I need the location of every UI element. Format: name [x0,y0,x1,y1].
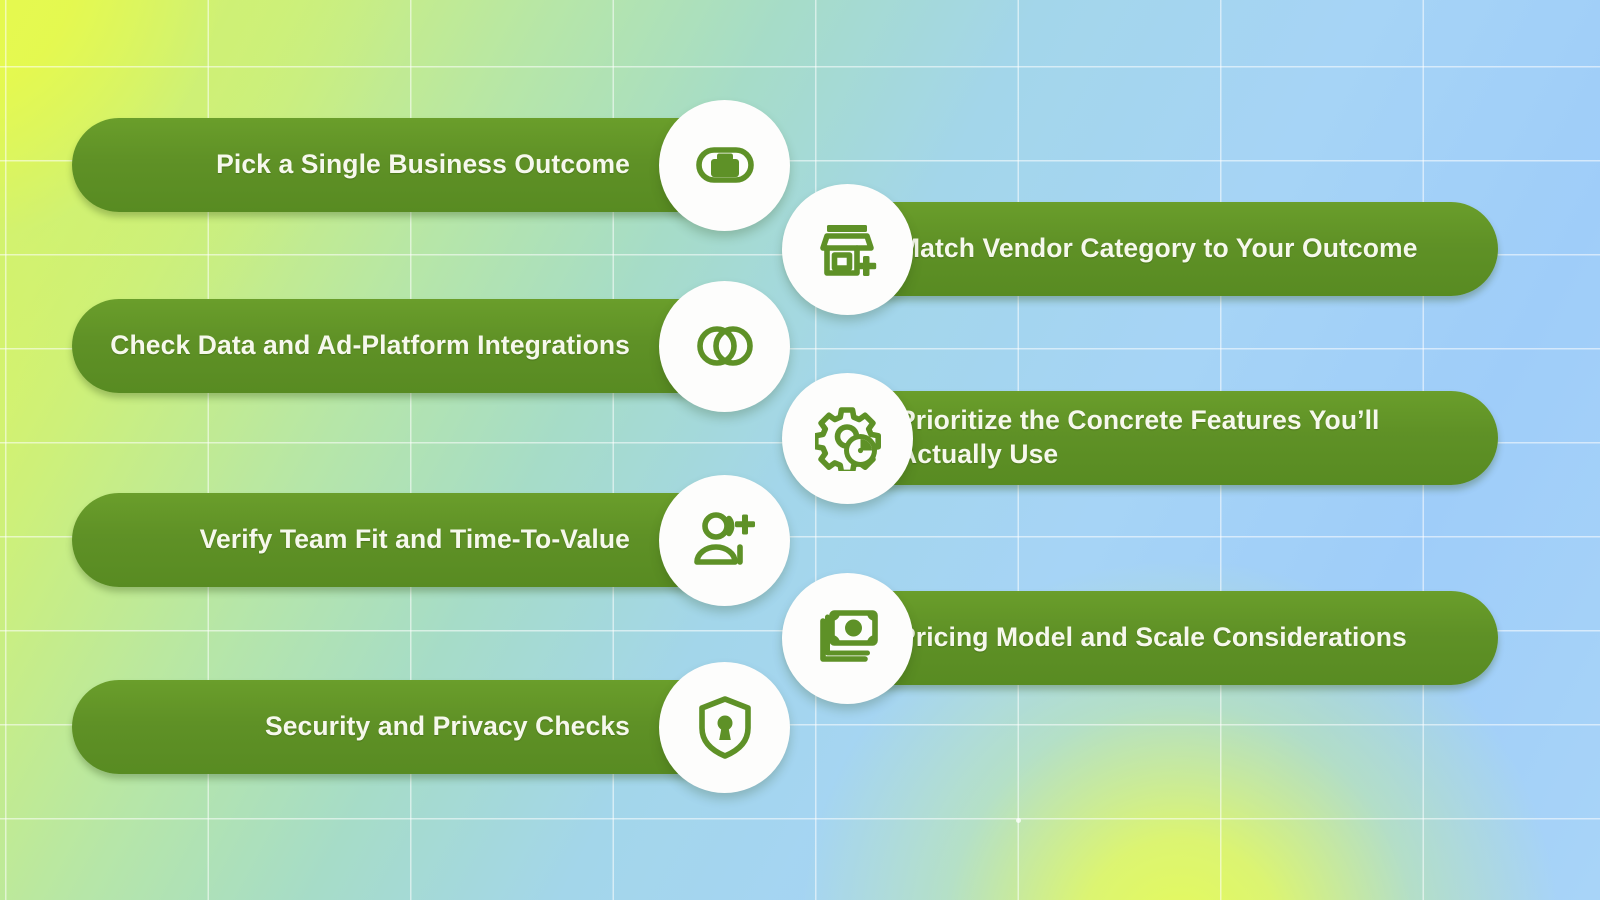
step-icon-circle-5[interactable] [659,475,790,606]
background-speck [1016,818,1021,823]
briefcase-icon [693,133,757,197]
step-icon-circle-7[interactable] [659,662,790,793]
banknotes-icon [816,609,880,667]
storefront-add-icon [816,217,880,281]
step-label-5: Verify Team Fit and Time-To-Value [200,523,630,557]
step-bar-5[interactable]: Verify Team Fit and Time-To-Value [72,493,726,587]
step-row-6[interactable]: Pricing Model and Scale Considerations [786,591,1498,685]
step-icon-circle-2[interactable] [782,184,913,315]
step-icon-circle-6[interactable] [782,573,913,704]
gear-clock-icon [815,405,881,471]
step-label-7: Security and Privacy Checks [265,710,630,744]
integrations-rings-icon [694,315,756,377]
step-bar-1[interactable]: Pick a Single Business Outcome [72,118,726,212]
step-row-3[interactable]: Check Data and Ad-Platform Integrations [72,299,726,393]
step-bar-7[interactable]: Security and Privacy Checks [72,680,726,774]
step-label-1: Pick a Single Business Outcome [216,148,630,182]
step-bar-3[interactable]: Check Data and Ad-Platform Integrations [72,299,726,393]
step-label-2: Match Vendor Category to Your Outcome [898,232,1418,266]
step-label-3: Check Data and Ad-Platform Integrations [110,329,630,363]
shield-lock-icon [697,695,753,759]
step-row-2[interactable]: Match Vendor Category to Your Outcome [786,202,1498,296]
step-icon-circle-3[interactable] [659,281,790,412]
infographic-canvas: Pick a Single Business Outcome Match Ven… [0,0,1600,900]
step-icon-circle-4[interactable] [782,373,913,504]
step-label-4: Prioritize the Concrete Features You’ll … [898,404,1464,472]
step-row-7[interactable]: Security and Privacy Checks [72,680,726,774]
step-row-1[interactable]: Pick a Single Business Outcome [72,118,726,212]
step-label-6: Pricing Model and Scale Considerations [898,621,1407,655]
step-row-4[interactable]: Prioritize the Concrete Features You’ll … [786,391,1498,485]
step-row-5[interactable]: Verify Team Fit and Time-To-Value [72,493,726,587]
step-icon-circle-1[interactable] [659,100,790,231]
add-person-icon [692,509,758,571]
